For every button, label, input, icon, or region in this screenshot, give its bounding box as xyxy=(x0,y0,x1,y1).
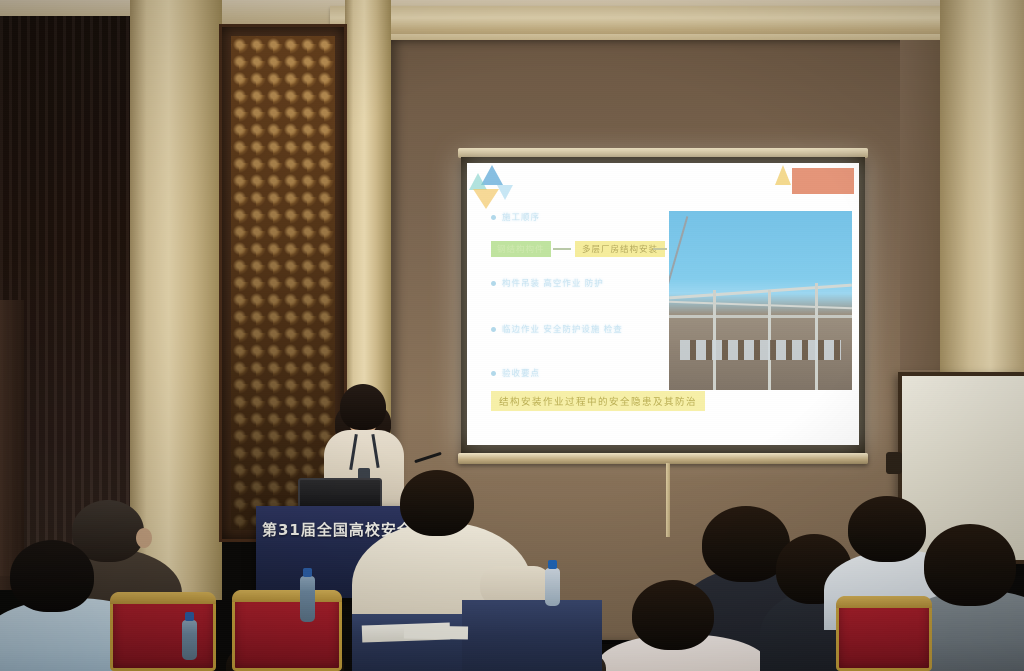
bullet-dot-icon xyxy=(491,371,496,376)
whiteboard-mount-clip xyxy=(886,452,902,474)
water-bottle[interactable] xyxy=(300,576,315,622)
steel-truss-1 xyxy=(669,283,852,299)
audience-head xyxy=(632,580,714,650)
projection-screen: 施工顺序 钢结构构件 多层厂房结构安装 构件吊装 高空作业 防护 临边作业 安全… xyxy=(458,148,868,458)
flow-arrow-1-icon xyxy=(553,248,571,250)
chair-top-rail xyxy=(836,596,932,608)
presenter-hair-top xyxy=(340,384,386,430)
slide-corner-badge xyxy=(792,168,854,194)
flow-arrow-2-icon xyxy=(653,248,667,250)
flow-source-label: 钢结构构件 xyxy=(491,241,551,257)
conference-table-front xyxy=(462,600,602,671)
steel-truss-2 xyxy=(669,301,852,309)
presentation-slide: 施工顺序 钢结构构件 多层厂房结构安装 构件吊装 高空作业 防护 临边作业 安全… xyxy=(467,163,859,445)
slide-bullet-3-text: 临边作业 安全防护设施 检查 xyxy=(502,323,623,335)
slide-bullet-4: 验收要点 xyxy=(491,367,540,379)
conference-chair[interactable] xyxy=(232,590,342,671)
screen-pull-cord[interactable] xyxy=(666,463,670,537)
paper-sheet[interactable] xyxy=(404,625,468,639)
chair-top-rail xyxy=(232,590,342,602)
screen-bottom-bar xyxy=(458,453,868,464)
audience-member-right-2 xyxy=(608,580,758,671)
audience-head xyxy=(10,540,94,612)
bottle-cap-icon xyxy=(548,560,557,569)
badge-triangle-yellow-icon xyxy=(775,165,791,185)
steel-truss-3 xyxy=(669,315,852,318)
chair-top-rail xyxy=(110,592,216,604)
bottle-cap-icon xyxy=(303,568,312,577)
bottle-cap-icon xyxy=(185,612,194,621)
water-bottle[interactable] xyxy=(182,620,197,660)
flow-target-label: 多层厂房结构安装 xyxy=(575,241,665,257)
slide-bottom-highlight: 结构安装作业过程中的安全隐患及其防治 xyxy=(491,391,705,411)
audience-head xyxy=(924,524,1016,606)
wood-pillar-right xyxy=(940,0,1024,400)
slide-bullet-2-text: 构件吊装 高空作业 防护 xyxy=(502,277,604,289)
steel-column-3 xyxy=(815,283,818,390)
conference-chair[interactable] xyxy=(110,592,216,671)
conference-room-photo: 施工顺序 钢结构构件 多层厂房结构安装 构件吊装 高空作业 防护 临边作业 安全… xyxy=(0,0,1024,671)
triangle-yellow-icon xyxy=(473,189,499,209)
lattice-shading xyxy=(231,36,335,530)
triangle-teal-icon xyxy=(469,173,487,190)
building-window-band xyxy=(680,340,841,360)
bullet-dot-icon xyxy=(491,215,496,220)
triangle-lightblue-icon xyxy=(497,185,513,200)
slide-bullet-1-text: 施工顺序 xyxy=(502,211,540,223)
slide-bullet-4-text: 验收要点 xyxy=(502,367,540,379)
slide-bullet-2: 构件吊装 高空作业 防护 xyxy=(491,277,604,289)
screen-case: 施工顺序 钢结构构件 多层厂房结构安装 构件吊装 高空作业 防护 临边作业 安全… xyxy=(461,157,865,453)
bullet-dot-icon xyxy=(491,327,496,332)
water-bottle[interactable] xyxy=(545,568,560,606)
bullet-dot-icon xyxy=(491,281,496,286)
crane-cable xyxy=(669,216,689,289)
slide-bullet-3: 临边作业 安全防护设施 检查 xyxy=(491,323,623,335)
conference-chair[interactable] xyxy=(836,596,932,671)
audience-head xyxy=(400,470,474,536)
slide-bullet-1: 施工顺序 xyxy=(491,211,540,223)
slide-photo-construction xyxy=(669,211,852,390)
